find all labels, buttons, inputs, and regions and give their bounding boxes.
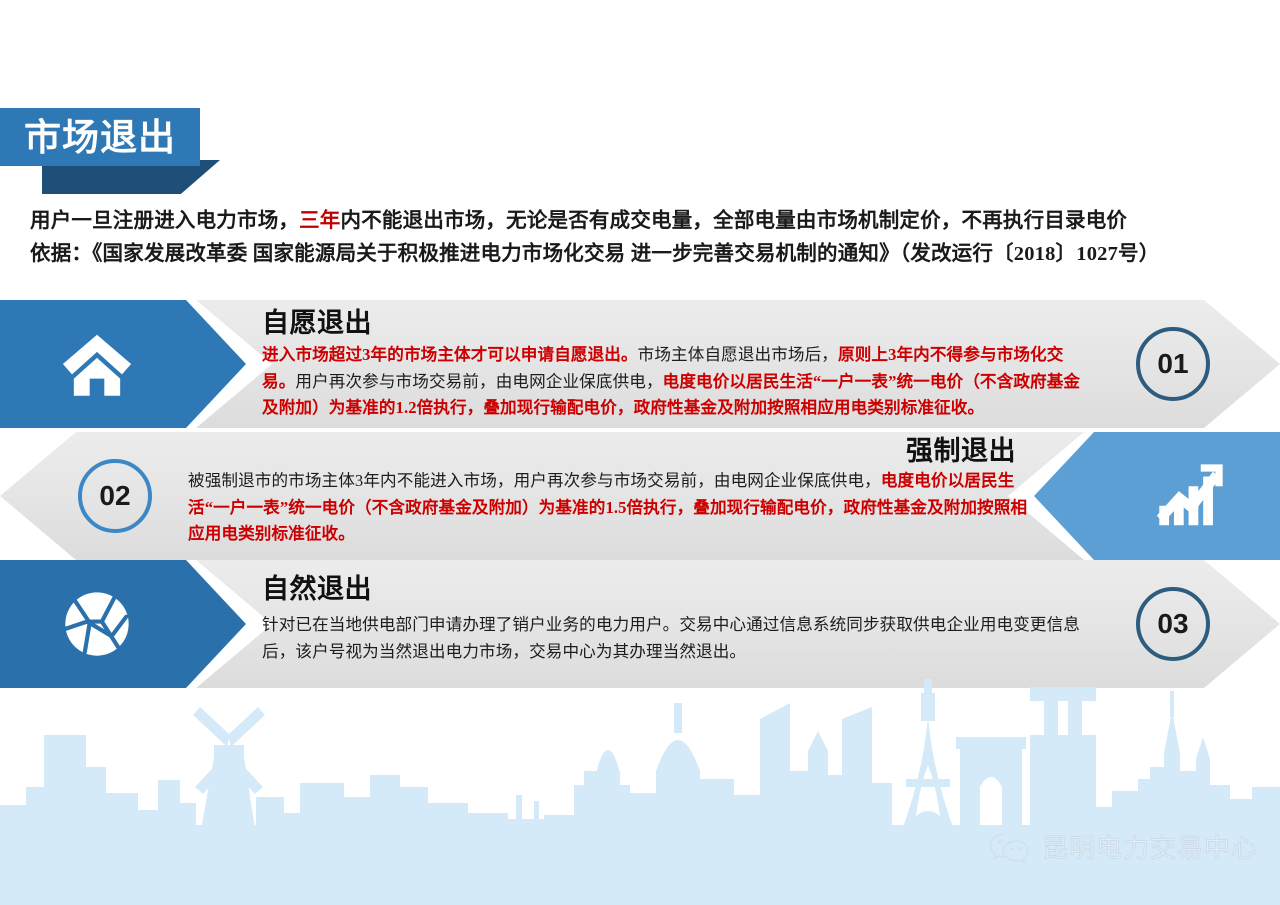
- row-content: 强制退出 被强制退市的市场主体3年内不能进入市场，用户再次参与市场交易前，由电网…: [188, 432, 1028, 560]
- step-number: 02: [99, 480, 130, 512]
- city-skyline-decoration: [0, 675, 1280, 905]
- ribbon-plate: 市场退出: [0, 108, 200, 166]
- watermark-label: 昆明电力交易中心: [1042, 828, 1258, 865]
- intro-line-1: 用户一旦注册进入电力市场，三年内不能退出市场，无论是否有成交电量，全部电量由市场…: [30, 205, 1255, 238]
- row-icon-chevron: [0, 300, 246, 428]
- section-row-natural-exit: 自然退出 针对已在当地供电部门申请办理了销户业务的电力用户。交易中心通过信息系统…: [0, 560, 1280, 688]
- section-title: 自然退出: [262, 576, 372, 603]
- body-segment: 进入市场超过3年的市场主体才可以申请自愿退出。: [262, 345, 638, 364]
- body-segment: 用户再次参与市场交易前，由电网企业保底供电，: [295, 372, 662, 391]
- step-number-badge: 01: [1136, 327, 1210, 401]
- slide-canvas: 市场退出 用户一旦注册进入电力市场，三年内不能退出市场，无论是否有成交电量，全部…: [0, 0, 1280, 905]
- step-number: 03: [1157, 608, 1188, 640]
- step-number-badge: 03: [1136, 587, 1210, 661]
- body-segment: 市场主体自愿退出市场后，: [638, 345, 838, 364]
- title-ribbon: 市场退出: [0, 108, 260, 196]
- step-number: 01: [1157, 348, 1188, 380]
- step-number-badge: 02: [78, 459, 152, 533]
- row-icon-chevron: [1034, 432, 1280, 560]
- body-segment: 针对已在当地供电部门申请办理了销户业务的电力用户。交易中心通过信息系统同步获取供…: [262, 615, 1080, 661]
- page-title: 市场退出: [24, 119, 176, 156]
- intro-text-a: 用户一旦注册进入电力市场，: [30, 210, 299, 232]
- intro-text-b: 内不能退出市场，无论是否有成交电量，全部电量由市场机制定价，不再执行目录电价: [341, 210, 1128, 232]
- section-title: 自愿退出: [262, 310, 372, 337]
- section-title: 强制退出: [906, 438, 1016, 465]
- section-body: 进入市场超过3年的市场主体才可以申请自愿退出。市场主体自愿退出市场后，原则上3年…: [262, 342, 1082, 422]
- globe-network-icon: [58, 585, 136, 663]
- house-icon: [58, 325, 136, 403]
- row-icon-chevron: [0, 560, 246, 688]
- section-row-voluntary-exit: 自愿退出 进入市场超过3年的市场主体才可以申请自愿退出。市场主体自愿退出市场后，…: [0, 300, 1280, 428]
- section-body: 针对已在当地供电部门申请办理了销户业务的电力用户。交易中心通过信息系统同步获取供…: [262, 612, 1082, 665]
- section-row-forced-exit: 强制退出 被强制退市的市场主体3年内不能进入市场，用户再次参与市场交易前，由电网…: [0, 432, 1280, 560]
- row-content: 自愿退出 进入市场超过3年的市场主体才可以申请自愿退出。市场主体自愿退出市场后，…: [262, 300, 1082, 428]
- section-body: 被强制退市的市场主体3年内不能进入市场，用户再次参与市场交易前，由电网企业保底供…: [188, 468, 1028, 548]
- growth-chart-icon: [1152, 457, 1230, 535]
- wechat-icon: [988, 830, 1032, 864]
- intro-highlight-three-years: 三年: [299, 210, 340, 232]
- wechat-watermark: 昆明电力交易中心: [988, 828, 1258, 865]
- intro-line-2: 依据：《国家发展改革委 国家能源局关于积极推进电力市场化交易 进一步完善交易机制…: [30, 238, 1255, 271]
- row-content: 自然退出 针对已在当地供电部门申请办理了销户业务的电力用户。交易中心通过信息系统…: [262, 560, 1082, 688]
- intro-paragraph: 用户一旦注册进入电力市场，三年内不能退出市场，无论是否有成交电量，全部电量由市场…: [30, 205, 1255, 271]
- body-segment: 被强制退市的市场主体3年内不能进入市场，用户再次参与市场交易前，由电网企业保底供…: [188, 471, 881, 490]
